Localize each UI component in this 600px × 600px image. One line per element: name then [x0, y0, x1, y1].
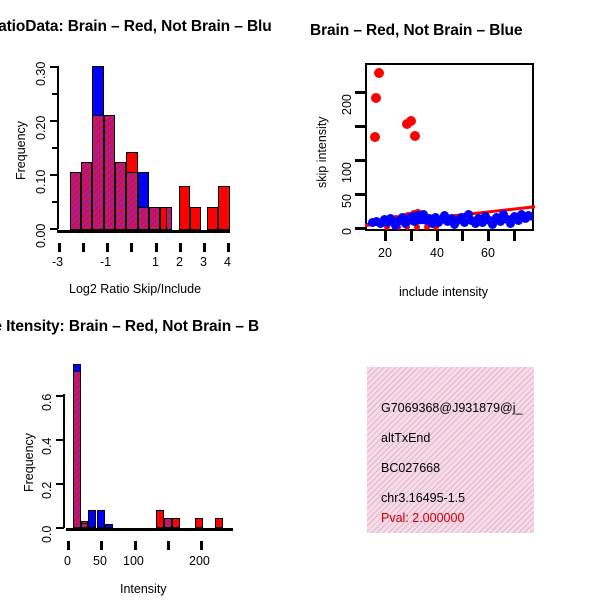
bar-overlap — [126, 172, 138, 230]
bar-overlap — [138, 207, 149, 230]
panel2-xtick — [461, 231, 464, 241]
panel2-xtick — [384, 231, 387, 241]
bar-notbrain — [88, 510, 96, 528]
panel1-xtick — [82, 243, 85, 252]
panel1-xtick — [203, 243, 206, 252]
panel1-ytick — [52, 147, 58, 149]
panel2-xtick — [487, 231, 490, 241]
panel3-xtick — [200, 541, 203, 550]
panel1-ytick — [52, 93, 58, 95]
figure-canvas: RatioData: Brain – Red, Not Brain – Blu … — [0, 0, 600, 600]
panel1-yticklabel: 0.30 — [34, 62, 48, 86]
point-brain — [410, 131, 420, 141]
panel2-yticklabel: 0 — [340, 228, 354, 235]
panel-gene-intensity-histogram: ne Itensity: Brain – Red, Not Brain – B … — [0, 310, 300, 600]
panel3-xtick — [167, 541, 170, 550]
bar-brain — [179, 186, 190, 230]
panel2-ylabel: skip intensity — [315, 116, 329, 188]
annotation-accession: BC027668 — [381, 461, 440, 475]
panel3-xlabel: Intensity — [120, 582, 167, 596]
panel3-xtick — [134, 541, 137, 550]
panel1-yticklabel: 0.00 — [34, 224, 48, 248]
bar-overlap — [149, 207, 160, 230]
panel1-xaxis — [57, 230, 230, 233]
panel1-yticklabel: 0.10 — [34, 170, 48, 194]
panel3-xticklabel: 100 — [123, 554, 144, 568]
panel1-xticklabel: -1 — [100, 255, 111, 269]
panel2-plot-frame — [365, 63, 534, 231]
panel1-xticklabel: 1 — [152, 255, 159, 269]
panel1-ytick — [50, 174, 58, 176]
panel2-xticklabel: 20 — [378, 246, 392, 260]
bar-brain — [195, 518, 203, 528]
panel1-xtick — [227, 243, 230, 252]
panel3-xticklabel: 200 — [189, 554, 210, 568]
panel2-xticklabel: 40 — [430, 246, 444, 260]
panel1-xticklabel: 2 — [176, 255, 183, 269]
annotation-probe-id: G7069368@J931879@j_ — [381, 401, 522, 415]
panel3-title: ne Itensity: Brain – Red, Not Brain – B — [0, 318, 259, 336]
panel3-yticklabel: 0.4 — [40, 438, 54, 455]
panel3-ylabel: Frequency — [22, 433, 36, 492]
panel2-yticklabel: 200 — [340, 94, 354, 115]
bar-brain — [190, 207, 201, 230]
panel1-ytick — [50, 120, 58, 122]
panel3-ytick — [56, 439, 64, 441]
annotation-locus: chr3.16495-1.5 — [381, 491, 465, 505]
panel2-ytick — [355, 227, 365, 230]
bar-brain — [215, 518, 223, 528]
panel2-yticklabel: 100 — [340, 162, 354, 183]
panel1-ytick — [52, 201, 58, 203]
bar-overlap — [81, 162, 92, 230]
panel1-ytick — [50, 66, 58, 68]
panel3-ytick — [56, 395, 64, 397]
panel1-xtick — [130, 243, 133, 252]
point-brain — [371, 93, 381, 103]
panel1-title: RatioData: Brain – Red, Not Brain – Blu — [0, 18, 272, 36]
panel1-xlabel: Log2 Ratio Skip/Include — [69, 282, 201, 296]
panel2-ytick — [355, 193, 365, 196]
bar-overlap — [73, 371, 81, 528]
bar-overlap — [164, 518, 172, 528]
panel3-yticklabel: 0.6 — [40, 394, 54, 411]
panel2-ytick — [355, 91, 365, 94]
bar-brain — [207, 207, 218, 230]
panel3-xticklabel: 0 — [64, 554, 71, 568]
panel-intensity-scatter: Brain – Red, Not Brain – Blue skip inten… — [300, 0, 600, 310]
panel-ratio-histogram: RatioData: Brain – Red, Not Brain – Blu … — [0, 0, 300, 310]
annotation-pval: Pval: 2.000000 — [381, 511, 464, 525]
panel3-xticklabel: 50 — [93, 554, 107, 568]
bar-brain — [172, 518, 180, 528]
bar-brain — [218, 186, 230, 230]
panel3-yticklabel: 0.2 — [40, 482, 54, 499]
panel3-yaxis — [63, 394, 65, 528]
panel2-xtick — [436, 231, 439, 241]
panel1-ylabel: Frequency — [14, 121, 28, 180]
panel2-ytick — [355, 159, 365, 162]
panel2-title: Brain – Red, Not Brain – Blue — [310, 22, 522, 40]
panel1-xtick — [179, 243, 182, 252]
point-brain — [374, 68, 384, 78]
bar-overlap — [92, 115, 104, 230]
point-brain — [370, 132, 380, 142]
annotation-event-type: altTxEnd — [381, 431, 430, 445]
panel3-ytick — [56, 483, 64, 485]
bar-overlap — [166, 207, 172, 230]
panel1-xtick — [155, 243, 158, 252]
panel2-xlabel: include intensity — [399, 285, 488, 299]
panel2-yticklabel: 50 — [340, 194, 354, 208]
panel1-xtick — [58, 243, 61, 252]
panel3-yticklabel: 0.0 — [40, 526, 54, 543]
panel1-xticklabel: 4 — [224, 255, 231, 269]
panel1-xtick — [106, 243, 109, 252]
panel1-xticklabel: 3 — [200, 255, 207, 269]
panel1-xticklabel: -3 — [52, 255, 63, 269]
bar-overlap — [104, 115, 115, 230]
panel3-xtick — [100, 541, 103, 550]
bar-overlap — [70, 172, 81, 230]
annotation-box: G7069368@J931879@j_ altTxEnd BC027668 ch… — [367, 367, 534, 533]
bar-brain — [156, 510, 164, 528]
panel-annotation: G7069368@J931879@j_ altTxEnd BC027668 ch… — [300, 310, 600, 600]
panel3-xaxis — [66, 528, 233, 531]
point-brain — [406, 116, 416, 126]
bar-overlap — [115, 162, 126, 230]
panel2-ytick — [355, 125, 365, 128]
bar-notbrain — [97, 510, 105, 528]
panel1-yticklabel: 0.20 — [34, 116, 48, 140]
panel3-ytick — [56, 527, 64, 529]
panel3-xtick — [67, 541, 70, 550]
panel2-xtick — [513, 231, 516, 241]
panel2-xtick — [410, 231, 413, 241]
panel2-xticklabel: 60 — [481, 246, 495, 260]
point-notbrain — [524, 211, 533, 220]
